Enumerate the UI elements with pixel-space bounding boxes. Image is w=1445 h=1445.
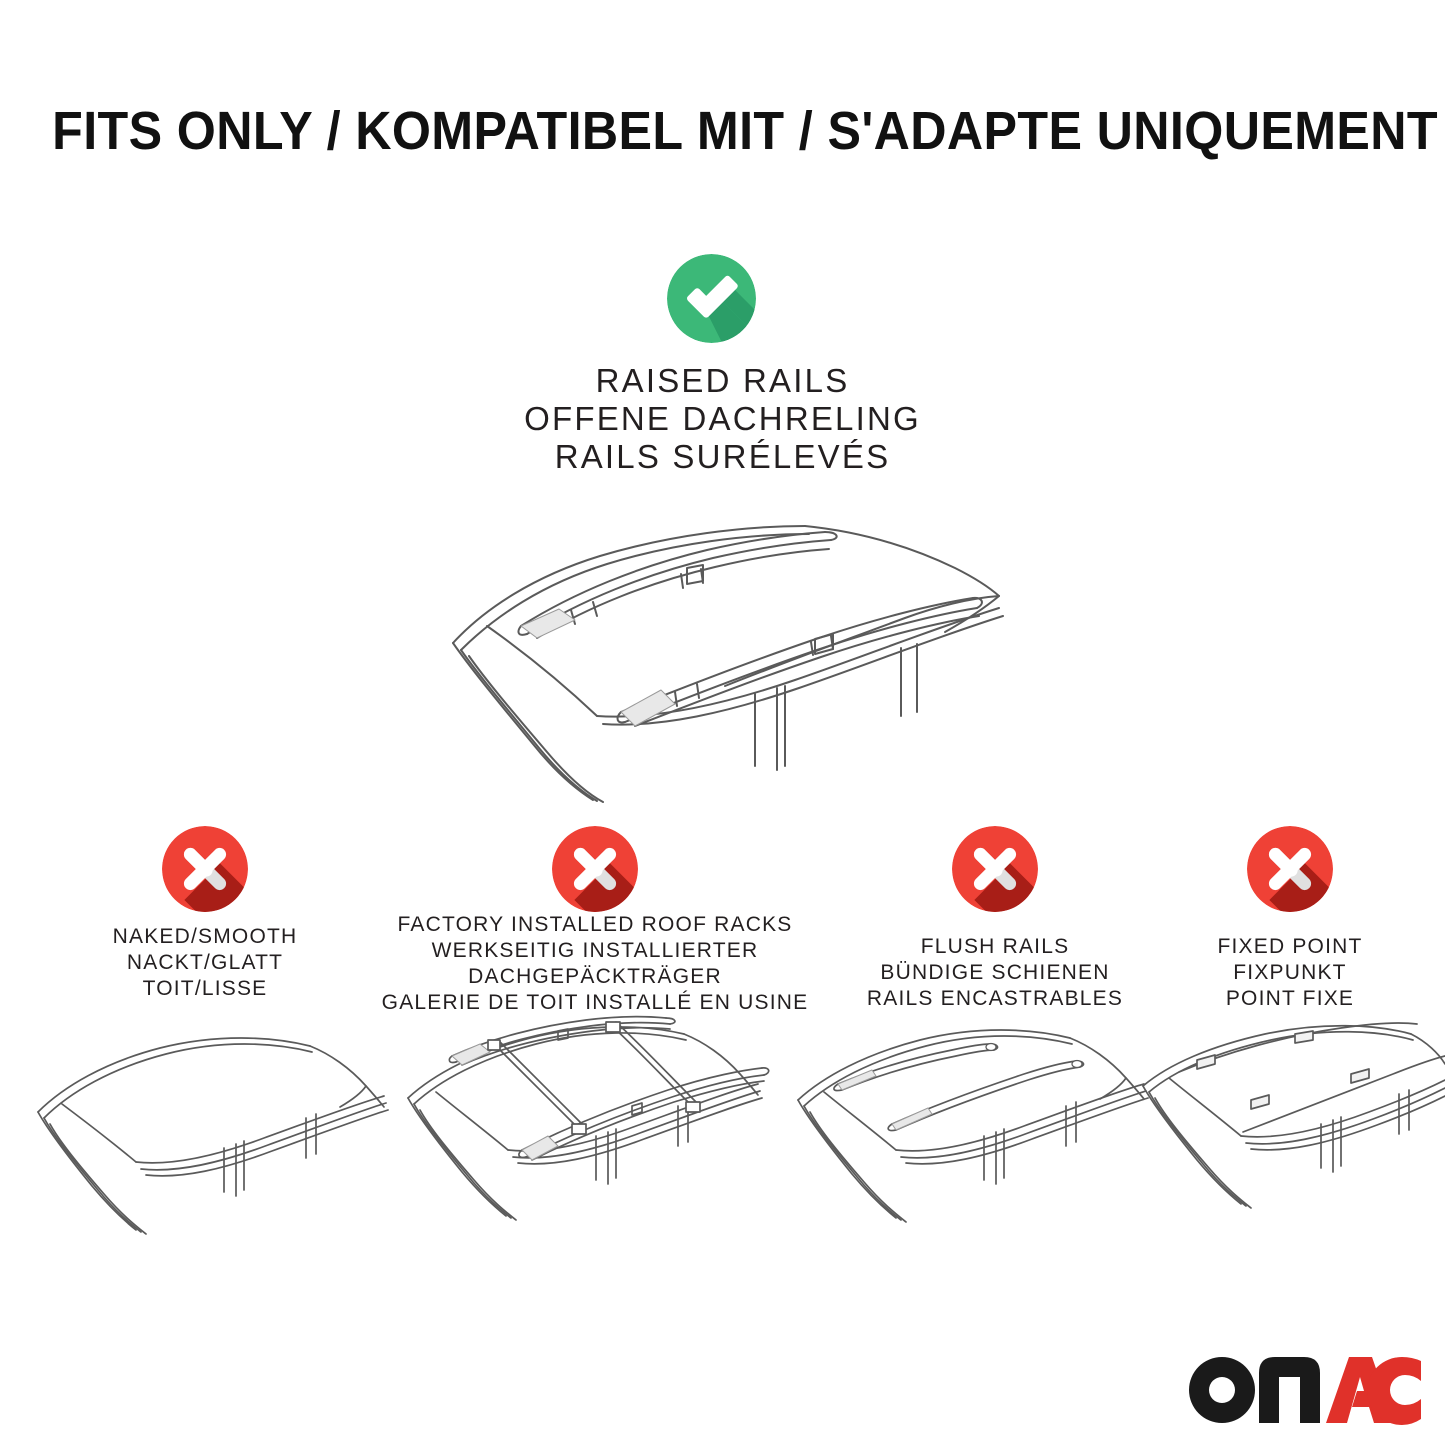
caption-line-2: WERKSEITIG INSTALLIERTER — [370, 938, 820, 964]
check-circle-icon — [667, 254, 756, 343]
caption-line-1: FIXED POINT — [1140, 934, 1440, 960]
omac-logo — [1186, 1355, 1421, 1425]
caption-line-2: FIXPUNKT — [1140, 960, 1440, 986]
incompatible-caption-fixed-point: FIXED POINT FIXPUNKT POINT FIXE — [1140, 934, 1440, 1012]
caption-line-1: FACTORY INSTALLED ROOF RACKS — [370, 912, 820, 938]
car-roof-flush-rails-illustration — [780, 1012, 1150, 1242]
caption-line-2: NACKT/GLATT — [0, 950, 410, 976]
caption-line-1: FLUSH RAILS — [800, 934, 1190, 960]
caption-line-3: RAILS ENCASTRABLES — [800, 986, 1190, 1012]
incompatible-caption-naked-smooth: NAKED/SMOOTH NACKT/GLATT TOIT/LISSE — [0, 924, 410, 1002]
header: FITS ONLY / KOMPATIBEL MIT / S'ADAPTE UN… — [0, 104, 1445, 158]
caption-line-3: DACHGEPÄCKTRÄGER — [370, 964, 820, 990]
incompatible-caption-flush-rails: FLUSH RAILS BÜNDIGE SCHIENEN RAILS ENCAS… — [800, 934, 1190, 1012]
car-roof-factory-roof-racks-illustration — [400, 1012, 770, 1242]
car-roof-fixed-point-illustration — [1135, 1012, 1445, 1242]
car-roof-naked-smooth-illustration — [20, 1012, 390, 1242]
caption-line-2: BÜNDIGE SCHIENEN — [800, 960, 1190, 986]
logo-letter-m — [1259, 1357, 1320, 1423]
page-title: FITS ONLY / KOMPATIBEL MIT / S'ADAPTE UN… — [52, 104, 1438, 158]
compatible-line-2: OFFENE DACHRELING — [0, 400, 1445, 438]
compatible-caption: RAISED RAILS OFFENE DACHRELING RAILS SUR… — [0, 362, 1445, 476]
caption-line-3: POINT FIXE — [1140, 986, 1440, 1012]
x-circle-icon — [1247, 826, 1333, 912]
caption-line-3: TOIT/LISSE — [0, 976, 410, 1002]
x-circle-icon — [162, 826, 248, 912]
compatible-line-3: RAILS SURÉLEVÉS — [0, 438, 1445, 476]
car-roof-with-raised-rails-illustration — [425, 498, 1005, 803]
compatible-line-1: RAISED RAILS — [0, 362, 1445, 400]
x-circle-icon — [952, 826, 1038, 912]
incompatible-caption-factory-racks: FACTORY INSTALLED ROOF RACKS WERKSEITIG … — [370, 912, 820, 1016]
logo-letter-o — [1189, 1357, 1255, 1423]
x-circle-icon — [552, 826, 638, 912]
caption-line-1: NAKED/SMOOTH — [0, 924, 410, 950]
